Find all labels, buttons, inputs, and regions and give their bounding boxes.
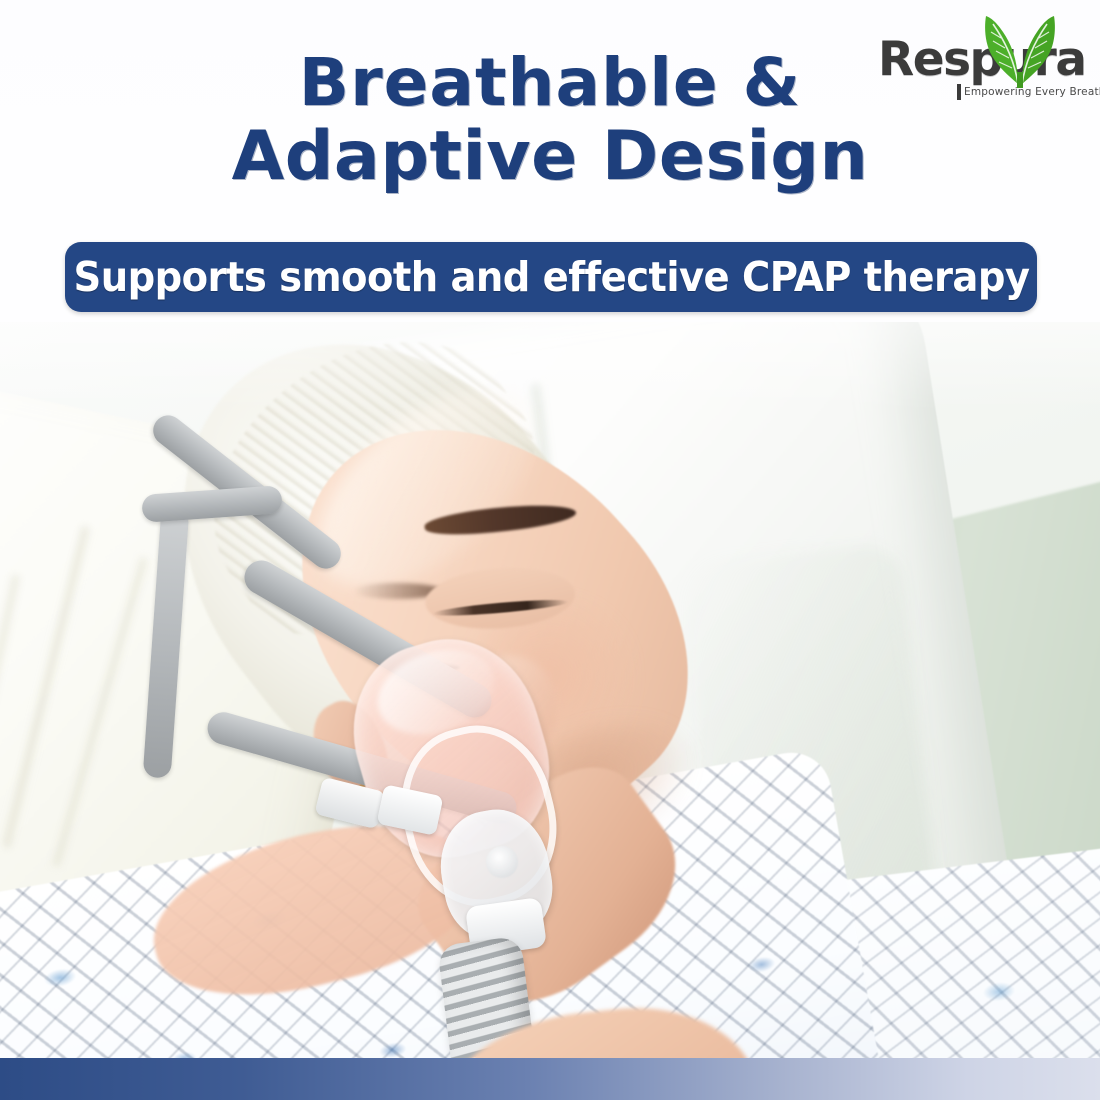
bottom-gradient-bar bbox=[0, 1058, 1100, 1100]
leaf-icon bbox=[981, 14, 1059, 88]
headline-line-2: Adaptive Design bbox=[0, 120, 1100, 194]
brand-logo[interactable]: Respura Empowering Every Breath bbox=[878, 14, 1078, 112]
subheadline-banner: Supports smooth and effective CPAP thera… bbox=[65, 242, 1037, 312]
logo-tagline: Empowering Every Breath bbox=[964, 86, 1100, 98]
cpap-patient-photo bbox=[0, 322, 1100, 1062]
promo-card: Breathable & Adaptive Design Supports sm… bbox=[0, 0, 1100, 1100]
logo-tagline-rule bbox=[957, 84, 961, 100]
subheadline-text: Supports smooth and effective CPAP thera… bbox=[73, 253, 1029, 301]
cpap-mask-vent bbox=[486, 846, 518, 878]
